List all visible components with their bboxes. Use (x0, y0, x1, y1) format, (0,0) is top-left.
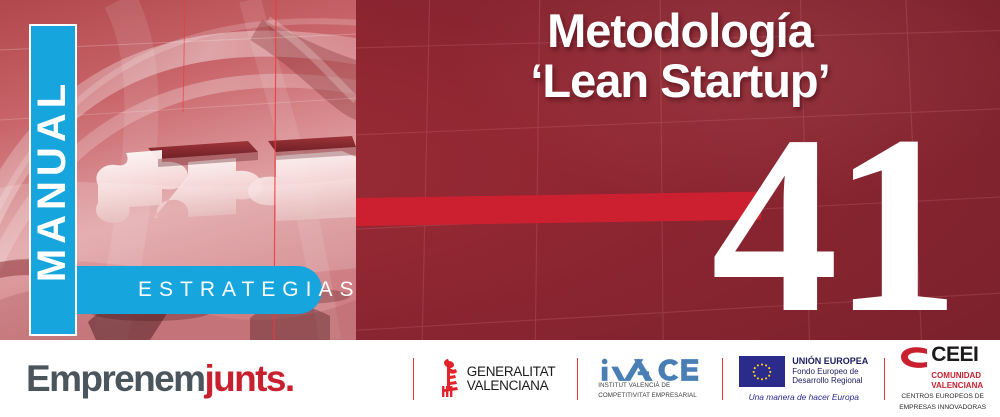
brand-part-1: Emprenem (26, 358, 204, 399)
issue-number: 41 (711, 118, 954, 332)
ceei-wordmark: CEEI (931, 345, 978, 365)
ivace-sub-line-2: COMPETITIVITAT EMPRESARIAL (598, 392, 702, 400)
ivace-sub-line-1: INSTITUT VALENCIÀ DE (598, 382, 702, 390)
ceei-desc-line-1: CENTROS EUROPEOS DE (899, 393, 986, 401)
magazine-cover: MANUAL ESTRATEGIAS Metodología ‘Lean Sta… (0, 0, 1000, 417)
ceei-swoosh-icon (899, 346, 929, 372)
manual-label: MANUAL (31, 78, 76, 281)
brand-part-2: junts. (204, 358, 293, 399)
ceei-cv-line-1: COMUNIDAD (931, 371, 986, 380)
manual-vertical-bar: MANUAL (29, 24, 77, 336)
union-europea-logo[interactable]: UNIÓN EUROPEA Fondo Europeo de Desarroll… (723, 356, 884, 402)
generalitat-valenciana-logo[interactable]: GENERALITAT VALENCIANA (414, 359, 577, 399)
category-label: ESTRATEGIAS (54, 278, 360, 302)
category-pill: ESTRATEGIAS (54, 266, 322, 314)
eu-slogan: Una manera de hacer Europa (739, 392, 868, 402)
generalitat-line-1: GENERALITAT (467, 365, 555, 379)
generalitat-crest-icon (436, 359, 462, 399)
ceei-cv-line-2: VALENCIANA (931, 381, 986, 390)
title-line-1: Metodología (547, 4, 813, 57)
ceei-logo[interactable]: CEEI COMUNIDAD VALENCIANA CENTROS EUROPE… (885, 345, 1000, 412)
eu-sub-line-2: Desarrollo Regional (792, 376, 868, 386)
eu-title: UNIÓN EUROPEA (792, 356, 868, 366)
emprenemjunts-logo[interactable]: Emprenemjunts. (26, 358, 294, 400)
ivace-wordmark-icon (598, 358, 702, 380)
ceei-desc-line-2: EMPRESAS INNOVADORAS (899, 404, 986, 412)
eu-flag-icon (739, 356, 785, 387)
ivace-logo[interactable]: INSTITUT VALENCIÀ DE COMPETITIVITAT EMPR… (578, 358, 722, 400)
generalitat-line-2: VALENCIANA (467, 379, 555, 393)
eu-sub-line-1: Fondo Europeo de (792, 367, 868, 377)
generalitat-wordmark: GENERALITAT VALENCIANA (467, 365, 555, 393)
footer-logo-bar: Emprenemjunts. GENERALITAT (0, 340, 1000, 417)
